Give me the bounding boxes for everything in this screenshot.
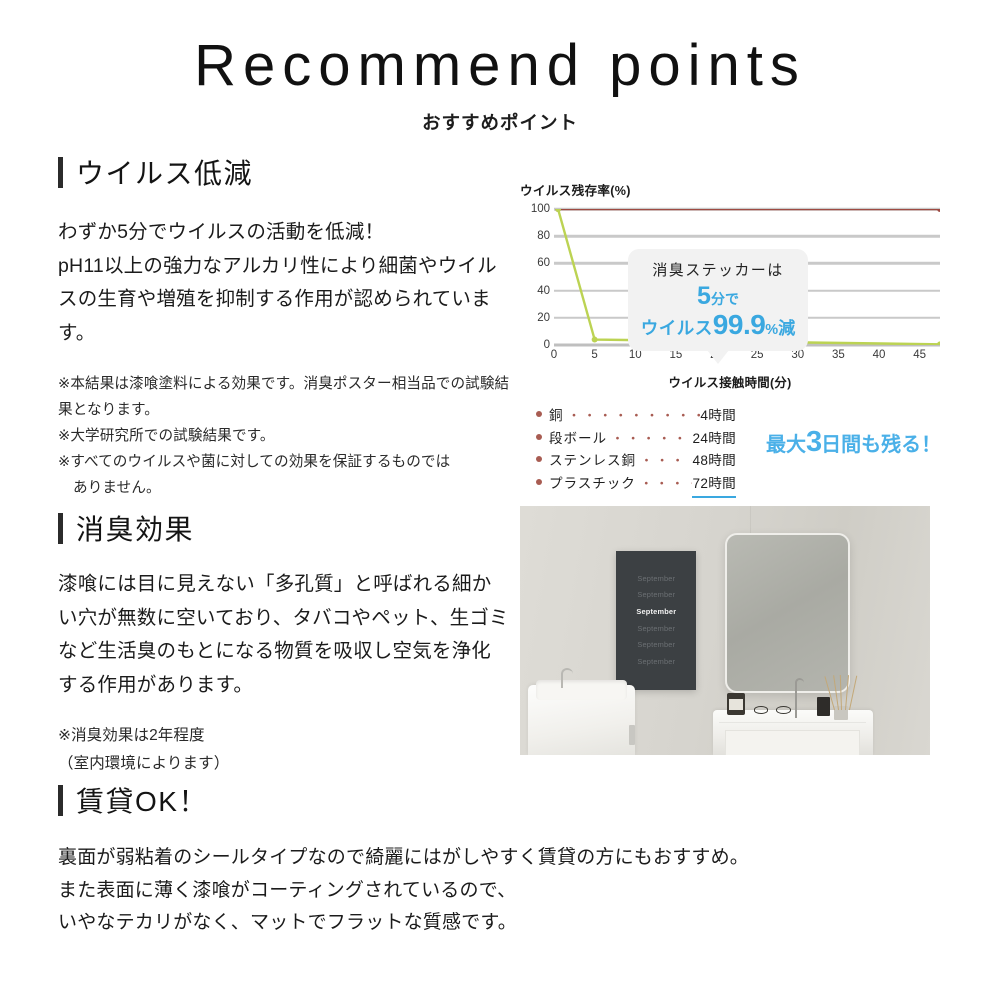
chart-x-tick: 45 (913, 349, 926, 361)
reed-stick (840, 675, 842, 710)
section-heading: 賃貸OK！ (58, 780, 938, 820)
chart-plot: 020406080100 消臭ステッカーは 5分で ウイルス99.9%減 (520, 209, 940, 345)
legend-bullet-icon (536, 479, 542, 485)
photo-glasses (754, 706, 791, 713)
section-title: ウイルス低減 (76, 152, 253, 192)
recommend-points-page: Recommend points おすすめポイント ウイルス低減 わずか5分でウ… (0, 0, 1000, 1000)
chart-y-tick: 0 (520, 339, 550, 351)
section-deodorizing-effect: 消臭効果 漆喰には目に見えない「多孔質」と呼ばれる細かい穴が無数に空いており、タ… (58, 508, 510, 777)
legend-row: 銅・・・・・・・・・・・4時間 (536, 405, 736, 428)
section-body: 裏面が弱粘着のシールタイプなので綺麗にはがしやすく賃貸の方にもおすすめ。 また表… (58, 842, 938, 940)
max-days-prefix: 最大 (766, 434, 806, 456)
note-line: ありません。 (58, 476, 510, 502)
legend-label: 段ボール (549, 428, 607, 451)
section-notes: ※本結果は漆喰塗料による効果です。消臭ポスター相当品での試験結果となります。 ※… (58, 372, 510, 502)
callout-line-1: 消臭ステッカーは (636, 259, 800, 280)
chart-y-tick: 60 (520, 257, 550, 269)
legend-bullet-icon (536, 434, 542, 440)
page-title: Recommend points (0, 36, 1000, 97)
chart-y-tick: 100 (520, 203, 550, 215)
chart-y-tick: 40 (520, 285, 550, 297)
callout-de: で (725, 291, 739, 307)
poster-text-line: September (637, 571, 675, 588)
bathroom-photo: SeptemberSeptemberSeptemberSeptemberSept… (520, 506, 930, 755)
chart-x-axis-label: ウイルス接触時間(分) (520, 373, 940, 391)
callout-minutes-number: 5 (697, 282, 711, 310)
callout-percent-sign: % (765, 322, 778, 338)
poster-text-line: September (637, 621, 675, 638)
max-days-suffix: 日間も残る！ (821, 434, 941, 456)
photo-poster: SeptemberSeptemberSeptemberSeptemberSept… (616, 551, 696, 690)
chart-data-point (592, 337, 598, 343)
legend-label: ステンレス銅 (549, 450, 636, 473)
chart-y-tick: 20 (520, 312, 550, 324)
photo-toilet-basin (536, 680, 626, 700)
poster-text-line: September (636, 604, 676, 621)
photo-cabinet (725, 730, 860, 755)
section-heading: ウイルス低減 (58, 152, 510, 192)
legend-value: 48時間 (692, 450, 736, 473)
page-subtitle: おすすめポイント (0, 109, 1000, 135)
legend-label: 銅 (549, 405, 564, 428)
legend-leader-dots: ・・・・・・・・ (607, 428, 693, 450)
chart-data-point (937, 341, 940, 345)
chart-y-axis-label: ウイルス残存率(%) (520, 180, 940, 199)
legend-bullet-icon (536, 411, 542, 417)
note-line: ※大学研究所での試験結果です。 (58, 424, 510, 450)
heading-accent-bar (58, 513, 63, 544)
section-body: 漆喰には目に見えない「多孔質」と呼ばれる細かい穴が無数に空いており、タバコやペッ… (58, 568, 510, 702)
legend-row: ステンレス銅・・・・・48時間 (536, 450, 736, 473)
page-header: Recommend points おすすめポイント (0, 36, 1000, 135)
photo-glasses-lens (776, 706, 791, 713)
photo-toilet-handle (629, 725, 635, 745)
section-body: わずか5分でウイルスの活動を低減！ pH11以上の強力なアルカリ性により細菌やウ… (58, 216, 510, 350)
photo-reed-sticks (832, 675, 853, 710)
legend-bullet-icon (536, 456, 542, 462)
photo-toilet-faucet (561, 668, 573, 688)
poster-text-line: September (637, 654, 675, 671)
max-days-number: 3 (806, 426, 821, 458)
chart-x-tick: 0 (551, 349, 557, 361)
callout-percent-number: 99.9 (713, 309, 766, 340)
heading-accent-bar (58, 157, 63, 188)
callout-reduce-word: 減 (778, 319, 795, 338)
note-line: ※本結果は漆喰塗料による効果です。消臭ポスター相当品での試験結果となります。 (58, 372, 510, 424)
poster-text-line: September (637, 587, 675, 604)
heading-accent-bar (58, 785, 63, 816)
section-heading: 消臭効果 (58, 508, 510, 548)
legend-row: プラスチック・・・・・72時間 (536, 473, 736, 499)
legend-value: 72時間 (692, 473, 736, 499)
chart-y-tick: 80 (520, 230, 550, 242)
poster-text-line: September (637, 637, 675, 654)
chart-x-tick: 40 (873, 349, 886, 361)
legend-value: 4時間 (700, 405, 736, 428)
legend-leader-dots: ・・・・・ (636, 450, 693, 472)
photo-glasses-lens (754, 706, 769, 713)
chart-x-tick: 5 (591, 349, 597, 361)
photo-diffuser-bottle (817, 697, 830, 717)
note-line: ※消臭効果は2年程度 (58, 722, 510, 750)
section-title: 消臭効果 (76, 508, 194, 548)
chart-data-point (555, 209, 561, 212)
photo-jar (727, 693, 745, 715)
virus-survival-chart: ウイルス残存率(%) 020406080100 消臭ステッカーは 5分で ウイル… (520, 180, 940, 391)
section-title: 賃貸OK！ (76, 780, 208, 820)
legend-leader-dots: ・・・・・・・・・・・ (564, 405, 701, 427)
chart-x-ticks: 051015202530354045 (554, 349, 940, 369)
photo-mirror (725, 533, 850, 692)
legend-row: 段ボール・・・・・・・・24時間 (536, 428, 736, 451)
callout-virus-word: ウイルス (641, 318, 713, 338)
chart-y-ticks: 020406080100 (520, 209, 550, 345)
callout-line-2: 5分で (636, 284, 800, 309)
callout-minutes-unit: 分 (711, 291, 725, 307)
section-notes: ※消臭効果は2年程度 （室内環境によります） (58, 722, 510, 777)
legend-value: 24時間 (692, 428, 736, 451)
section-virus-reduction: ウイルス低減 わずか5分でウイルスの活動を低減！ pH11以上の強力なアルカリ性… (58, 152, 510, 502)
max-days-annotation: 最大3日間も残る！ (766, 428, 941, 457)
callout-line-3: ウイルス99.9%減 (636, 311, 800, 339)
chart-data-point (937, 209, 940, 212)
note-line: ※すべてのウイルスや菌に対しての効果を保証するものでは (58, 450, 510, 476)
legend-leader-dots: ・・・・・ (636, 473, 693, 495)
photo-faucet (795, 678, 804, 718)
chart-legend: 銅・・・・・・・・・・・4時間段ボール・・・・・・・・24時間ステンレス銅・・・… (536, 405, 736, 498)
chart-x-tick: 35 (832, 349, 845, 361)
section-rental-ok: 賃貸OK！ 裏面が弱粘着のシールタイプなので綺麗にはがしやすく賃貸の方にもおすす… (58, 780, 938, 940)
callout-bubble: 消臭ステッカーは 5分で ウイルス99.9%減 (628, 249, 808, 351)
note-line: （室内環境によります） (58, 750, 510, 778)
reed-stick (845, 675, 849, 710)
legend-label: プラスチック (549, 473, 636, 496)
